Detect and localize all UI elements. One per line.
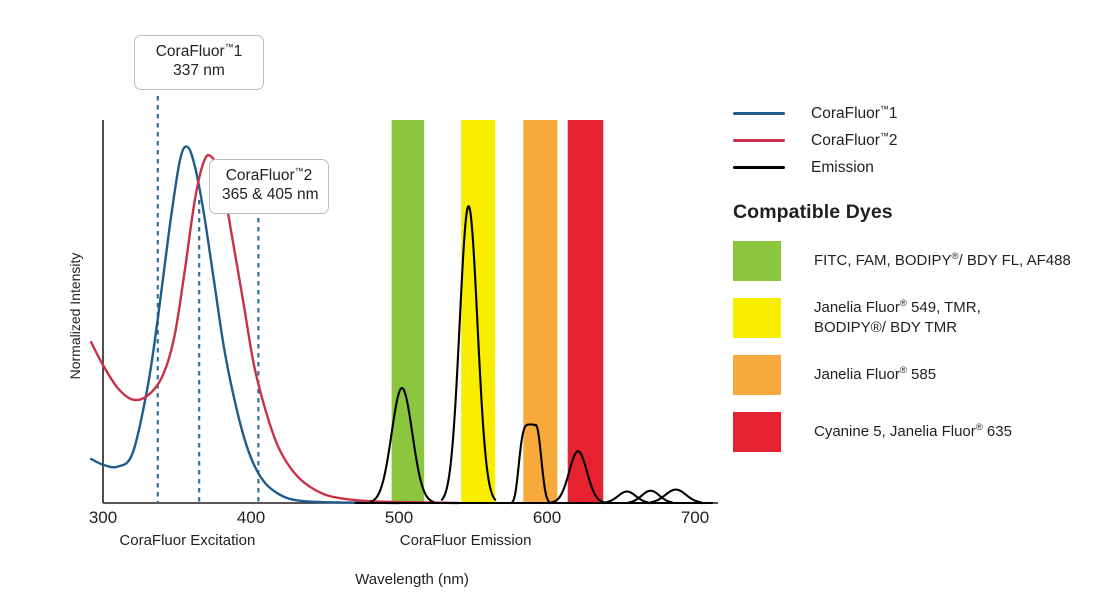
x-tick-700: 700 bbox=[681, 508, 709, 527]
emission-band-0 bbox=[392, 120, 425, 503]
x-axis-title: Wavelength (nm) bbox=[355, 571, 469, 588]
legend-item-corafluor-1: CoraFluor™1 bbox=[728, 100, 1100, 127]
callout-corafluor-2: CoraFluor™2 365 & 405 nm bbox=[209, 159, 329, 214]
emission-band-1 bbox=[461, 120, 495, 503]
legend-label-corafluor-1: CoraFluor™1 bbox=[811, 105, 898, 123]
legend-line-swatch-corafluor-1 bbox=[733, 112, 785, 115]
dye-label-green: FITC, FAM, BODIPY®/ BDY FL, AF488 bbox=[814, 251, 1071, 271]
chart-legend: CoraFluor™1 CoraFluor™2 Emission Compati… bbox=[728, 100, 1100, 452]
dye-item-yellow: Janelia Fluor® 549, TMR, BODIPY®/ BDY TM… bbox=[728, 298, 1100, 338]
callout-corafluor-1: CoraFluor™1 337 nm bbox=[134, 35, 264, 90]
dye-label-yellow: Janelia Fluor® 549, TMR, BODIPY®/ BDY TM… bbox=[814, 298, 981, 338]
legend-label-corafluor-2: CoraFluor™2 bbox=[811, 132, 898, 150]
legend-line-swatch-corafluor-2 bbox=[733, 139, 785, 142]
legend-line-swatch-emission bbox=[733, 166, 785, 169]
dye-label-orange: Janelia Fluor® 585 bbox=[814, 365, 936, 385]
dye-color-swatch-yellow bbox=[733, 298, 781, 338]
dye-color-swatch-red bbox=[733, 412, 781, 452]
axis-sublabel-1: CoraFluor Emission bbox=[400, 532, 532, 549]
callout-2-title: CoraFluor™2 bbox=[222, 167, 316, 186]
compatible-dyes-heading: Compatible Dyes bbox=[733, 201, 1100, 224]
legend-item-emission: Emission bbox=[728, 154, 1100, 181]
callout-1-title: CoraFluor™1 bbox=[147, 43, 251, 62]
x-tick-600: 600 bbox=[533, 508, 561, 527]
dye-label-red: Cyanine 5, Janelia Fluor® 635 bbox=[814, 422, 1012, 442]
spectra-chart: 300400500600700CoraFluor ExcitationCoraF… bbox=[0, 0, 730, 612]
x-tick-300: 300 bbox=[89, 508, 117, 527]
dye-color-swatch-orange bbox=[733, 355, 781, 395]
callout-2-value: 365 & 405 nm bbox=[222, 186, 316, 205]
x-tick-400: 400 bbox=[237, 508, 265, 527]
dye-item-orange: Janelia Fluor® 585 bbox=[728, 355, 1100, 395]
callout-1-value: 337 nm bbox=[147, 62, 251, 81]
legend-label-emission: Emission bbox=[811, 159, 874, 177]
x-tick-500: 500 bbox=[385, 508, 413, 527]
spectra-plot-svg: 300400500600700CoraFluor ExcitationCoraF… bbox=[0, 0, 730, 612]
y-axis-title: Normalized Intensity bbox=[67, 253, 83, 380]
axis-sublabel-0: CoraFluor Excitation bbox=[119, 532, 255, 549]
dye-color-swatch-green bbox=[733, 241, 781, 281]
emission-band-3 bbox=[568, 120, 604, 503]
legend-item-corafluor-2: CoraFluor™2 bbox=[728, 127, 1100, 154]
dye-item-green: FITC, FAM, BODIPY®/ BDY FL, AF488 bbox=[728, 241, 1100, 281]
dye-item-red: Cyanine 5, Janelia Fluor® 635 bbox=[728, 412, 1100, 452]
